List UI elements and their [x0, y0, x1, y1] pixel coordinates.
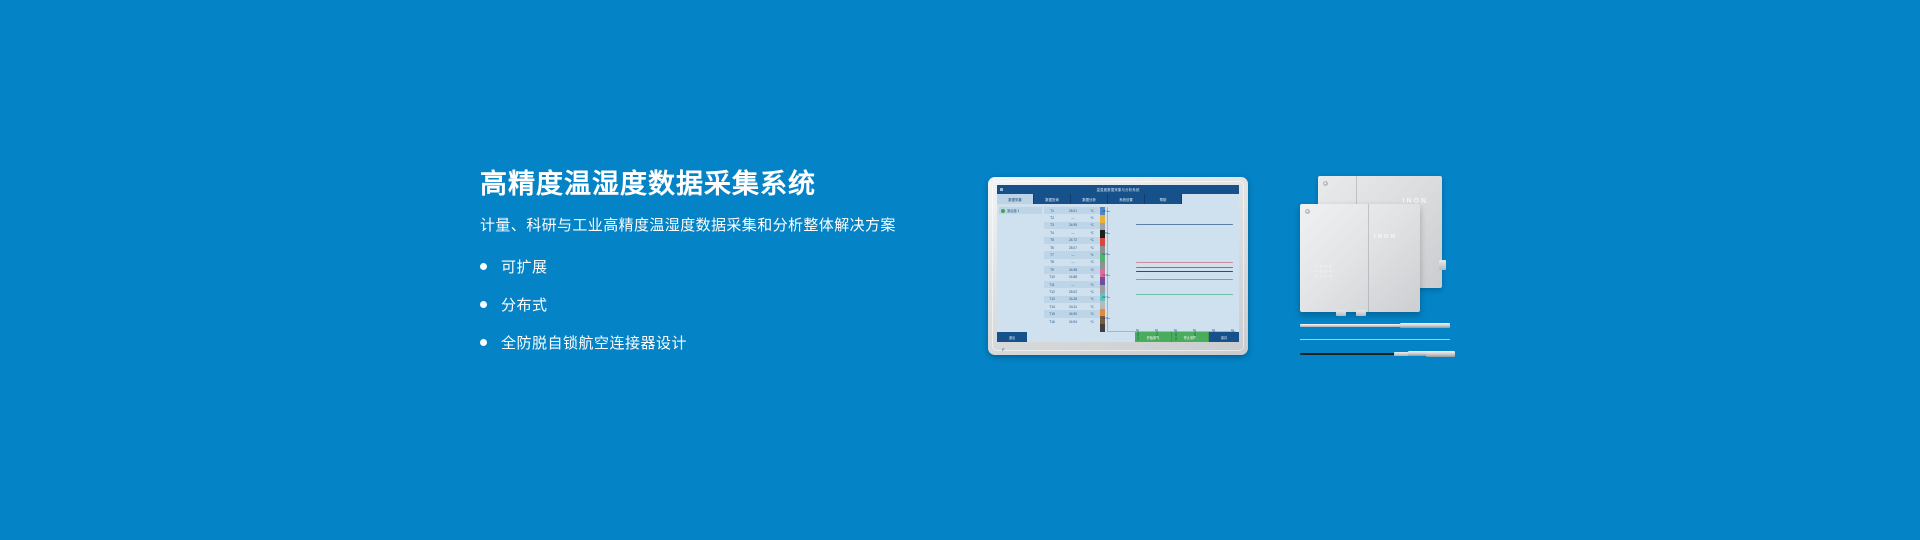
legend-color-swatch — [1100, 215, 1105, 223]
x-axis-tick-label: 10:40:00 — [1212, 329, 1216, 340]
tab-data-analysis[interactable]: 数据分析 — [1071, 194, 1108, 204]
table-row[interactable]: T2---℃ — [1044, 214, 1100, 221]
table-cell-unit: ℃ — [1086, 238, 1098, 242]
table-cell-unit: ℃ — [1086, 305, 1098, 309]
bullet-dot-icon — [480, 263, 487, 270]
y-axis-tick — [1108, 254, 1110, 255]
temperature-probe-long — [1300, 350, 1455, 359]
screw-icon — [1323, 181, 1328, 186]
legend-color-swatch — [1100, 301, 1105, 309]
software-window-title: 温湿度数据采集与分析系统 — [1096, 187, 1139, 192]
table-cell-value: 24.99 — [1060, 223, 1086, 227]
table-cell-value: 25.02 — [1060, 290, 1086, 294]
enclosure-seam — [1368, 204, 1369, 312]
table-cell-ch: T5 — [1044, 238, 1060, 242]
y-axis-tick-label: 24.8 — [1097, 273, 1108, 277]
table-row[interactable]: T4---℃ — [1044, 229, 1100, 236]
industrial-panel-monitor: 温湿度数据采集与分析系统 数据采集 数据查询 数据分析 系统设置 帮助 测点组 … — [988, 177, 1248, 355]
table-cell-ch: T7 — [1044, 253, 1060, 257]
tab-system-settings[interactable]: 系统设置 — [1108, 194, 1145, 204]
feature-label: 全防脱自锁航空连接器设计 — [501, 332, 687, 353]
table-cell-value: 24.90 — [1060, 312, 1086, 316]
tab-help[interactable]: 帮助 — [1145, 194, 1182, 204]
bullet-dot-icon — [480, 301, 487, 308]
table-cell-unit: ℃ — [1086, 320, 1098, 324]
table-row[interactable]: T125.01℃ — [1044, 207, 1100, 214]
table-row[interactable]: T524.72℃ — [1044, 237, 1100, 244]
table-row[interactable]: T324.99℃ — [1044, 222, 1100, 229]
legend-color-swatch — [1100, 238, 1105, 246]
table-cell-value: --- — [1060, 283, 1086, 287]
table-cell-ch: T16 — [1044, 320, 1060, 324]
software-tabbar: 数据采集 数据查询 数据分析 系统设置 帮助 — [997, 194, 1239, 204]
banner-text-block: 高精度温湿度数据采集系统 计量、科研与工业高精度温湿度数据采集和分析整体解决方案… — [480, 168, 1000, 370]
probe-rod — [1300, 324, 1404, 327]
tabbar-filler — [1182, 194, 1239, 204]
chart-trace-line — [1136, 271, 1233, 272]
tab-data-query[interactable]: 数据查询 — [1034, 194, 1071, 204]
trend-chart: 25.12524.924.824.724.610:00:0010:10:0010… — [1107, 207, 1236, 332]
table-cell-ch: T13 — [1044, 297, 1060, 301]
table-cell-value: 25.01 — [1060, 209, 1086, 213]
software-titlebar: 温湿度数据采集与分析系统 — [997, 185, 1239, 194]
feature-label: 分布式 — [501, 294, 548, 315]
feature-label: 可扩展 — [501, 256, 548, 277]
table-cell-value: 24.98 — [1060, 268, 1086, 272]
table-cell-unit: ℃ — [1086, 223, 1098, 227]
chart-trace-line — [1136, 279, 1233, 280]
device-brand-label: INON — [1374, 234, 1397, 240]
table-cell-value: --- — [1060, 231, 1086, 235]
table-cell-unit: ℃ — [1086, 246, 1098, 250]
page-subtitle: 计量、科研与工业高精度温湿度数据采集和分析整体解决方案 — [480, 216, 1000, 236]
table-cell-ch: T8 — [1044, 260, 1060, 264]
table-cell-ch: T1 — [1044, 209, 1060, 213]
feature-list: 可扩展 分布式 全防脱自锁航空连接器设计 — [480, 256, 1000, 353]
x-axis-tick-label: 10:20:00 — [1174, 329, 1178, 340]
table-cell-unit: ℃ — [1086, 268, 1098, 272]
window-menu-icon[interactable] — [1000, 188, 1003, 191]
data-acquisition-unit-front: INON ▤ ▤ ▤ ▣ ▤ ▤ ▤ ▣ ▤ ▤ ▤ ▣ — [1300, 204, 1420, 312]
tree-node-sensor-group[interactable]: 测点组 1 — [999, 207, 1042, 214]
monitor-screen: 温湿度数据采集与分析系统 数据采集 数据查询 数据分析 系统设置 帮助 测点组 … — [997, 185, 1239, 342]
monitor-brand-logo: ◤ — [1002, 347, 1006, 352]
table-cell-unit: ℃ — [1086, 260, 1098, 264]
screw-icon — [1305, 209, 1310, 214]
tab-data-acquisition[interactable]: 数据采集 — [997, 194, 1034, 204]
table-cell-ch: T15 — [1044, 312, 1060, 316]
table-row[interactable]: T1524.90℃ — [1044, 310, 1100, 317]
x-axis-tick-label: 10:50:00 — [1231, 329, 1235, 340]
footer-gap — [1027, 332, 1135, 342]
x-axis-tick-label: 10:00:00 — [1136, 329, 1140, 340]
table-cell-value: --- — [1060, 253, 1086, 257]
y-axis-tick — [1108, 211, 1110, 212]
connector-port — [1336, 310, 1346, 316]
probe-body — [1426, 351, 1455, 357]
device-etching: ▤ ▤ ▤ ▣ ▤ ▤ ▤ ▣ ▤ ▤ ▤ ▣ — [1315, 264, 1332, 279]
bullet-dot-icon — [480, 339, 487, 346]
chart-trace-line — [1136, 224, 1233, 225]
probe-with-aviation-connector — [1300, 322, 1450, 330]
sensor-cable — [1300, 353, 1396, 355]
table-row[interactable]: T1024.88℃ — [1044, 274, 1100, 281]
connector-port — [1356, 310, 1366, 316]
list-item: 全防脱自锁航空连接器设计 — [480, 332, 1000, 353]
table-cell-ch: T10 — [1044, 275, 1060, 279]
table-row[interactable]: T11---℃ — [1044, 281, 1100, 288]
monitor-bezel: 温湿度数据采集与分析系统 数据采集 数据查询 数据分析 系统设置 帮助 测点组 … — [988, 177, 1248, 355]
table-cell-ch: T4 — [1044, 231, 1060, 235]
table-row[interactable]: T1324.28℃ — [1044, 296, 1100, 303]
table-cell-value: --- — [1060, 216, 1086, 220]
table-cell-ch: T9 — [1044, 268, 1060, 272]
legend-color-swatch — [1100, 324, 1105, 332]
sensor-cable-thin — [1300, 338, 1450, 342]
table-cell-ch: T11 — [1044, 283, 1060, 287]
y-axis-tick — [1108, 297, 1110, 298]
y-axis-tick-label: 24.7 — [1097, 295, 1108, 299]
legend-color-swatch — [1100, 285, 1105, 293]
chart-trace-line — [1136, 262, 1233, 263]
software-footer: 退出 开始采集 停止采集 保存 — [997, 332, 1239, 342]
chart-trace-line — [1136, 294, 1233, 295]
device-tree-panel: 测点组 1 — [997, 204, 1044, 332]
aviation-connector — [1408, 351, 1428, 356]
y-axis-tick — [1108, 275, 1110, 276]
table-cell-value: 24.72 — [1060, 238, 1086, 242]
table-cell-value: 24.88 — [1060, 275, 1086, 279]
table-cell-value: 24.11 — [1060, 305, 1086, 309]
y-axis-tick-label: 25 — [1097, 231, 1108, 235]
table-row[interactable]: T924.98℃ — [1044, 266, 1100, 273]
table-row[interactable]: T1225.02℃ — [1044, 288, 1100, 295]
table-row[interactable]: T625.07℃ — [1044, 244, 1100, 251]
probe-tip — [1400, 323, 1450, 328]
y-axis-tick-label: 25.1 — [1097, 209, 1108, 213]
status-dot-icon — [1001, 209, 1005, 213]
product-banner: 高精度温湿度数据采集系统 计量、科研与工业高精度温湿度数据采集和分析整体解决方案… — [0, 0, 1920, 540]
table-cell-value: 24.28 — [1060, 297, 1086, 301]
table-cell-value: 25.07 — [1060, 246, 1086, 250]
y-axis-tick — [1108, 233, 1110, 234]
table-cell-ch: T2 — [1044, 216, 1060, 220]
legend-color-swatch — [1100, 277, 1105, 285]
table-cell-ch: T3 — [1044, 223, 1060, 227]
y-axis-tick-label: 24.6 — [1097, 316, 1108, 320]
channel-readout-table: T125.01℃T2---℃T324.99℃T4---℃T524.72℃T625… — [1044, 204, 1100, 332]
page-title: 高精度温湿度数据采集系统 — [480, 168, 1000, 200]
table-row[interactable]: T1424.11℃ — [1044, 303, 1100, 310]
sensor-cable — [1300, 339, 1450, 340]
table-row[interactable]: T8---℃ — [1044, 259, 1100, 266]
connector-port — [1439, 260, 1446, 270]
y-axis-tick-label: 24.9 — [1097, 252, 1108, 256]
x-axis-tick-label: 10:30:00 — [1193, 329, 1197, 340]
tree-node-label: 测点组 1 — [1007, 208, 1019, 213]
list-item: 可扩展 — [480, 256, 1000, 277]
legend-color-swatch — [1100, 262, 1105, 270]
table-cell-value: 24.94 — [1060, 320, 1086, 324]
channel-color-legend — [1100, 207, 1105, 332]
table-cell-unit: ℃ — [1086, 283, 1098, 287]
table-cell-ch: T6 — [1044, 246, 1060, 250]
table-cell-ch: T12 — [1044, 290, 1060, 294]
x-axis-tick-label: 10:10:00 — [1155, 329, 1159, 340]
table-cell-ch: T14 — [1044, 305, 1060, 309]
y-axis-tick — [1108, 318, 1110, 319]
exit-button[interactable]: 退出 — [997, 332, 1027, 342]
start-acquisition-button[interactable]: 开始采集 — [1135, 332, 1172, 342]
table-cell-unit: ℃ — [1086, 290, 1098, 294]
software-body: 测点组 1 T125.01℃T2---℃T324.99℃T4---℃T524.7… — [997, 204, 1239, 332]
legend-color-swatch — [1100, 223, 1105, 231]
table-row[interactable]: T1624.94℃ — [1044, 318, 1100, 325]
table-row[interactable]: T7---℃ — [1044, 251, 1100, 258]
list-item: 分布式 — [480, 294, 1000, 315]
table-cell-value: --- — [1060, 260, 1086, 264]
chart-trace-line — [1136, 267, 1233, 268]
table-cell-unit: ℃ — [1086, 216, 1098, 220]
